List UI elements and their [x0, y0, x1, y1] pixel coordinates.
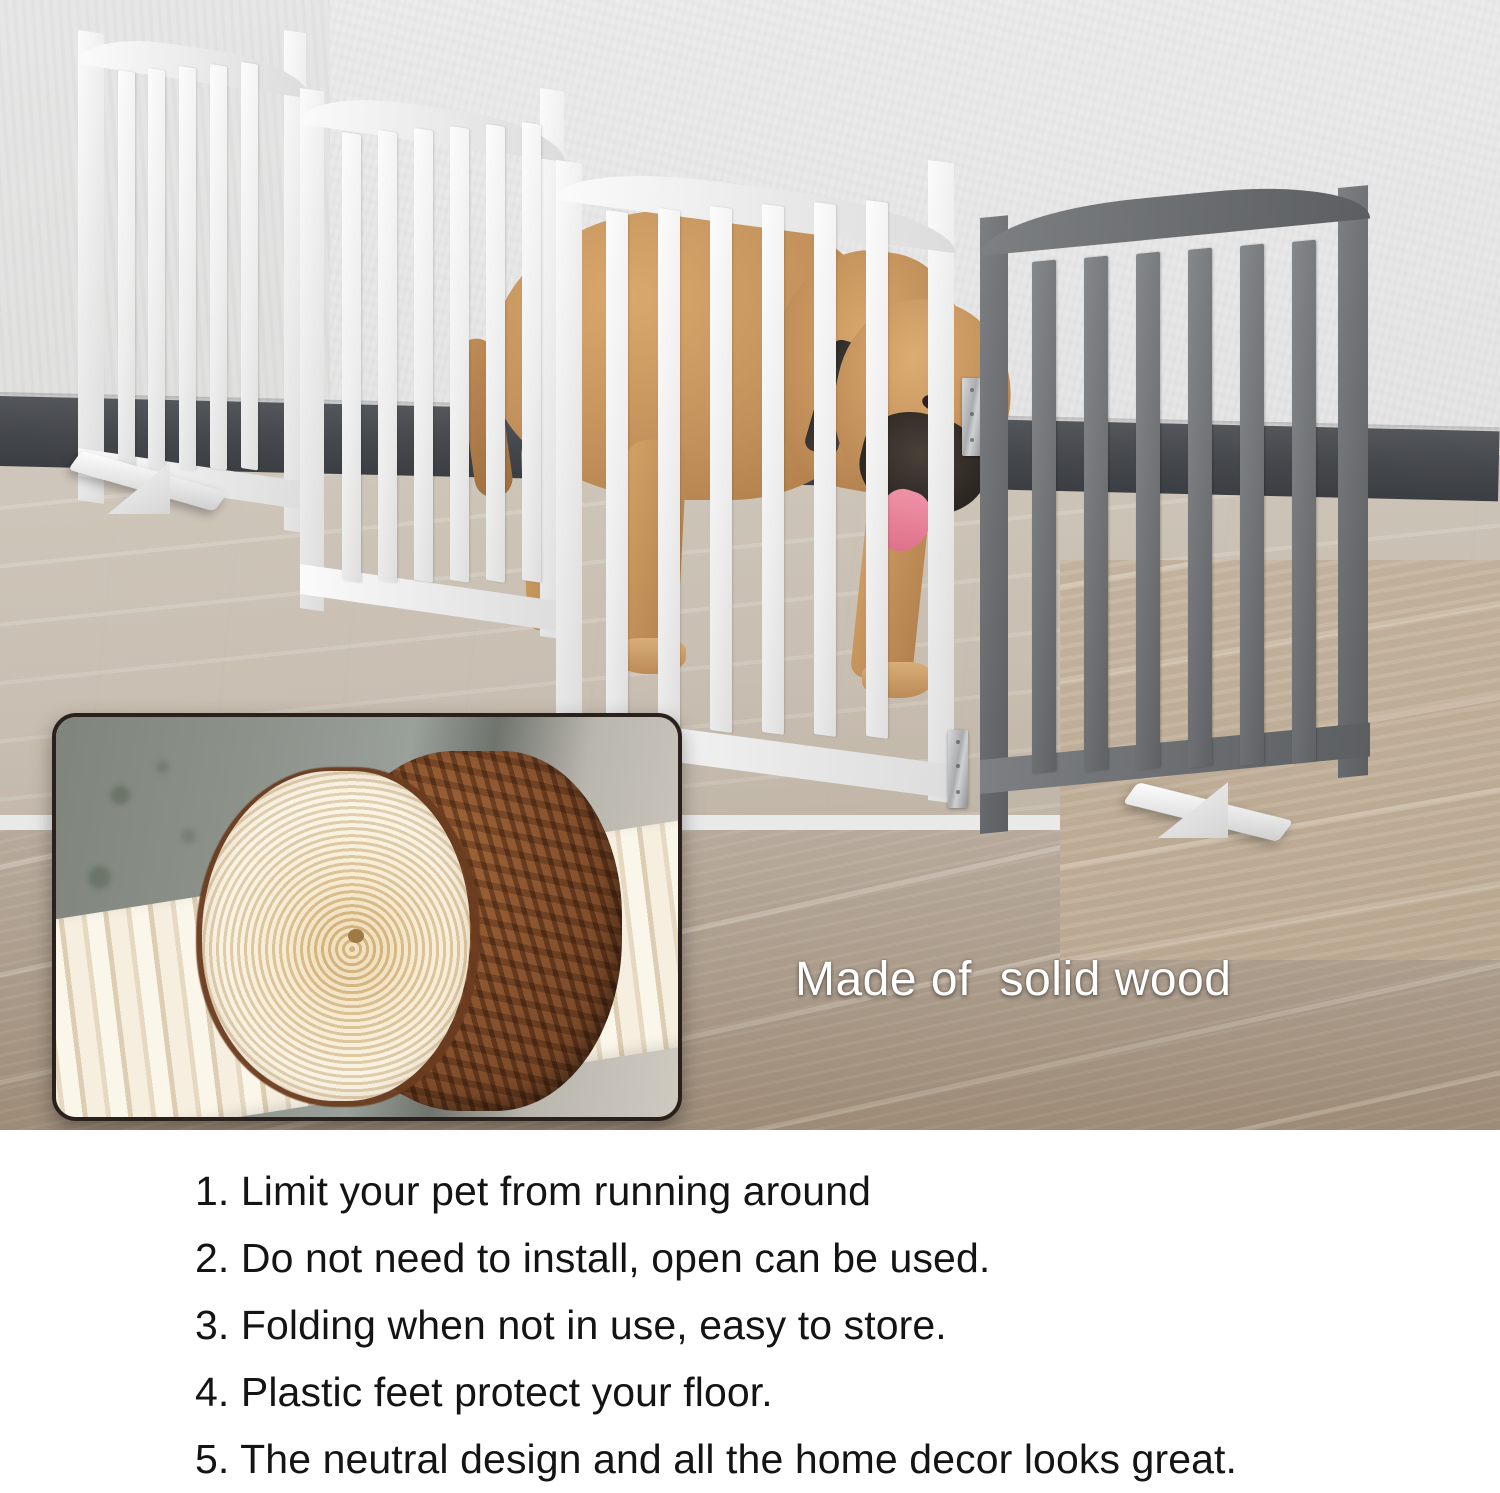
- hinge-top-icon: [962, 378, 982, 456]
- panel-2-left-stile: [300, 88, 324, 611]
- panel-4-slat-1: [1032, 260, 1056, 774]
- panel-2-slat-3: [414, 128, 433, 583]
- feature-item-5: 5. The neutral design and all the home d…: [195, 1426, 1500, 1493]
- panel-1-slat-1: [118, 70, 135, 471]
- panel-4-slat-5: [1240, 244, 1264, 766]
- panel-2-slat-2: [378, 130, 397, 583]
- feature-item-1: 1. Limit your pet from running around: [195, 1158, 1500, 1225]
- feature-item-4: 4. Plastic feet protect your floor.: [195, 1359, 1500, 1426]
- panel-3-slat-1: [606, 210, 628, 729]
- panel-1-slat-5: [241, 62, 258, 471]
- feature-list: 1. Limit your pet from running around 2.…: [0, 1130, 1500, 1478]
- panel-2-slat-6: [522, 122, 541, 583]
- panel-2-slat-4: [450, 126, 469, 583]
- panel-4-right-stile: [1338, 185, 1368, 778]
- panel-4-left-stile: [980, 215, 1008, 834]
- gate-panel-4-gray: [980, 188, 1370, 888]
- solid-wood-inset-photo: [52, 713, 682, 1121]
- gate-panel-2: [300, 88, 565, 688]
- hinge-bottom-icon: [948, 730, 968, 808]
- panel-2-slat-1: [342, 132, 361, 583]
- log-growth-rings: [202, 771, 470, 1101]
- panel-4-slat-3: [1136, 252, 1160, 770]
- panel-4-slat-2: [1084, 256, 1108, 772]
- panel-3-slat-6: [866, 200, 888, 739]
- panel-3-right-stile: [928, 160, 954, 803]
- panel-1-slat-2: [148, 68, 165, 471]
- panel-3-slat-3: [710, 206, 732, 733]
- panel-3-slat-5: [814, 202, 836, 737]
- panel-4-slat-6: [1292, 240, 1316, 764]
- panel-3-left-stile: [556, 160, 582, 759]
- log-pith-center: [348, 929, 364, 943]
- wood-caption: Made of solid wood: [795, 952, 1231, 1007]
- panel-2-slat-5: [486, 124, 505, 583]
- panel-3-slat-2: [658, 208, 680, 731]
- feature-item-3: 3. Folding when not in use, easy to stor…: [195, 1292, 1500, 1359]
- panel-1-left-stile: [78, 30, 104, 504]
- panel-1-slat-4: [210, 64, 227, 471]
- panel-4-slat-4: [1188, 248, 1212, 768]
- panel-1-slat-3: [179, 66, 196, 471]
- feature-item-2: 2. Do not need to install, open can be u…: [195, 1225, 1500, 1292]
- product-photo: Made of solid wood: [0, 0, 1500, 1130]
- panel-3-slat-4: [762, 204, 784, 735]
- wood-log: [202, 747, 622, 1115]
